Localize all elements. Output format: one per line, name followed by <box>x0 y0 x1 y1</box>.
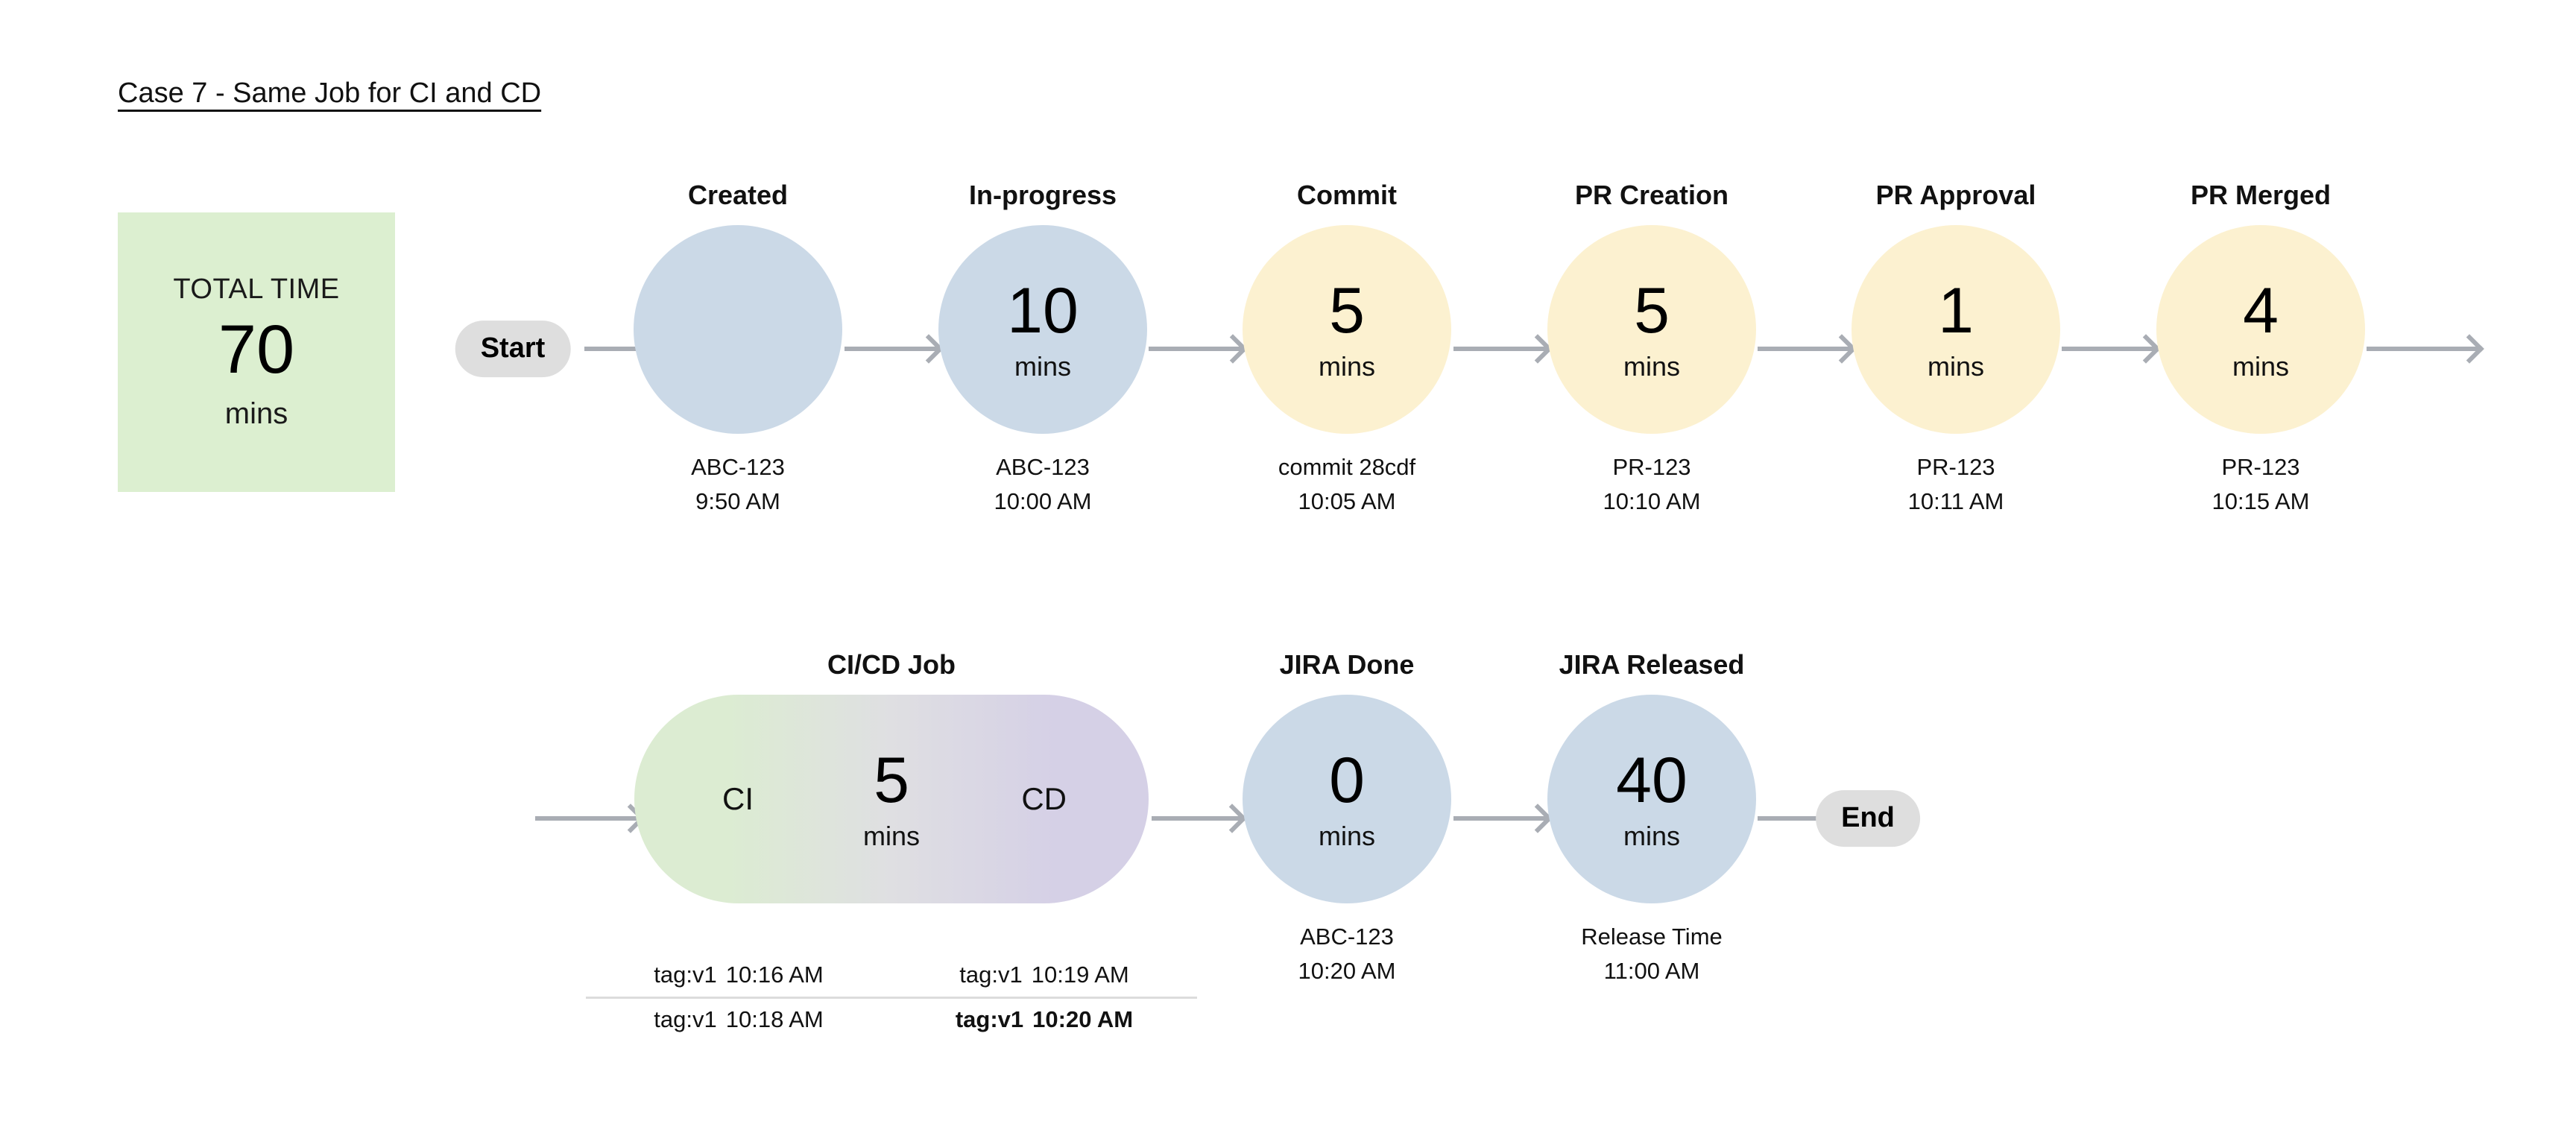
node-pr-approval[interactable]: PR Approval 1 mins PR-123 10:11 AM <box>1851 180 2060 520</box>
node-pr-creation-unit: mins <box>1623 353 1680 380</box>
node-pr-creation-label: PR Creation <box>1547 180 1756 210</box>
node-commit-meta-time: 10:05 AM <box>1243 484 1451 520</box>
end-pill[interactable]: End <box>1816 790 1920 847</box>
node-pr-merged-unit: mins <box>2232 353 2289 380</box>
node-jira-released[interactable]: JIRA Released 40 mins Release Time 11:00… <box>1547 650 1756 989</box>
tag-name: tag:v1 <box>654 962 716 988</box>
node-jira-done-unit: mins <box>1319 823 1375 850</box>
cicd-ci-text: CI <box>722 783 754 815</box>
page-title: Case 7 - Same Job for CI and CD <box>118 78 541 110</box>
node-created[interactable]: Created ABC-123 9:50 AM <box>634 180 842 520</box>
node-created-meta-time: 9:50 AM <box>634 484 842 520</box>
node-jira-released-meta-id: Release Time <box>1547 920 1756 955</box>
node-in-progress-meta: ABC-123 10:00 AM <box>938 450 1147 520</box>
node-commit-value: 5 <box>1329 279 1365 343</box>
node-created-meta: ABC-123 9:50 AM <box>634 450 842 520</box>
node-jira-released-meta-time: 11:00 AM <box>1547 954 1756 989</box>
node-pr-creation[interactable]: PR Creation 5 mins PR-123 10:10 AM <box>1547 180 1756 520</box>
cicd-center: 5 mins <box>863 748 920 850</box>
tag-time: 10:16 AM <box>726 962 824 988</box>
node-cicd-job-value: 5 <box>874 748 909 812</box>
cicd-cd-text: CD <box>1021 783 1067 815</box>
node-pr-creation-bubble: 5 mins <box>1547 225 1756 434</box>
node-in-progress-bubble: 10 mins <box>938 225 1147 434</box>
node-created-meta-id: ABC-123 <box>634 450 842 485</box>
node-commit-meta: commit 28cdf 10:05 AM <box>1243 450 1451 520</box>
node-pr-creation-meta-time: 10:10 AM <box>1547 484 1756 520</box>
node-in-progress-value: 10 <box>1007 279 1079 343</box>
node-in-progress-label: In-progress <box>938 180 1147 210</box>
node-pr-creation-meta: PR-123 10:10 AM <box>1547 450 1756 520</box>
node-pr-merged-meta: PR-123 10:15 AM <box>2156 450 2365 520</box>
node-cicd-job-unit: mins <box>863 823 920 850</box>
arrow-created-to-inprogress <box>845 347 938 351</box>
node-in-progress[interactable]: In-progress 10 mins ABC-123 10:00 AM <box>938 180 1147 520</box>
arrow-prapproval-to-prmerged <box>2062 347 2155 351</box>
node-jira-done-label: JIRA Done <box>1243 650 1451 680</box>
node-jira-released-meta: Release Time 11:00 AM <box>1547 920 1756 989</box>
node-pr-approval-label: PR Approval <box>1851 180 2060 210</box>
node-pr-approval-meta-id: PR-123 <box>1851 450 2060 485</box>
cicd-tag-table: tag:v110:16 AM tag:v110:19 AM tag:v110:1… <box>586 954 1197 1041</box>
arrow-prmerged-to-next <box>2367 347 2478 351</box>
total-time-card: TOTAL TIME 70 mins <box>118 212 395 492</box>
total-time-label: TOTAL TIME <box>173 273 339 307</box>
node-jira-done-value: 0 <box>1329 748 1365 812</box>
node-pr-merged[interactable]: PR Merged 4 mins PR-123 10:15 AM <box>2156 180 2365 520</box>
node-cicd-job-label: CI/CD Job <box>634 650 1149 680</box>
arrow-cicd-to-jira-done <box>1152 816 1241 821</box>
arrow-prcreation-to-prapproval <box>1758 347 1851 351</box>
node-created-label: Created <box>634 180 842 210</box>
node-pr-merged-value: 4 <box>2243 279 2279 343</box>
node-pr-approval-bubble: 1 mins <box>1851 225 2060 434</box>
node-jira-released-label: JIRA Released <box>1547 650 1756 680</box>
node-created-bubble <box>634 225 842 434</box>
node-pr-merged-bubble: 4 mins <box>2156 225 2365 434</box>
node-commit-meta-id: commit 28cdf <box>1243 450 1451 485</box>
tag-cell-ci-start: tag:v110:16 AM <box>586 954 891 997</box>
node-jira-done[interactable]: JIRA Done 0 mins ABC-123 10:20 AM <box>1243 650 1451 989</box>
node-pr-creation-meta-id: PR-123 <box>1547 450 1756 485</box>
node-pr-merged-label: PR Merged <box>2156 180 2365 210</box>
node-commit-unit: mins <box>1319 353 1375 380</box>
node-jira-done-meta: ABC-123 10:20 AM <box>1243 920 1451 989</box>
node-jira-released-bubble: 40 mins <box>1547 695 1756 903</box>
node-jira-released-value: 40 <box>1616 748 1688 812</box>
node-pr-approval-meta: PR-123 10:11 AM <box>1851 450 2060 520</box>
tag-time: 10:18 AM <box>726 1006 824 1032</box>
node-pr-approval-meta-time: 10:11 AM <box>1851 484 2060 520</box>
node-in-progress-meta-time: 10:00 AM <box>938 484 1147 520</box>
node-jira-done-bubble: 0 mins <box>1243 695 1451 903</box>
node-commit-bubble: 5 mins <box>1243 225 1451 434</box>
node-cicd-job[interactable]: CI/CD Job CI 5 mins CD <box>634 650 1149 903</box>
node-jira-released-unit: mins <box>1623 823 1680 850</box>
tag-name: tag:v1 <box>654 1006 716 1032</box>
tag-name: tag:v1 <box>959 962 1022 988</box>
total-time-unit: mins <box>225 396 288 432</box>
node-pr-creation-value: 5 <box>1634 279 1670 343</box>
arrow-jira-done-to-released <box>1453 816 1547 821</box>
node-cicd-job-capsule: CI 5 mins CD <box>634 695 1149 903</box>
node-jira-done-meta-id: ABC-123 <box>1243 920 1451 955</box>
node-pr-merged-meta-time: 10:15 AM <box>2156 484 2365 520</box>
tag-name: tag:v1 <box>956 1006 1023 1032</box>
start-pill[interactable]: Start <box>455 321 571 377</box>
node-jira-done-meta-time: 10:20 AM <box>1243 954 1451 989</box>
node-in-progress-meta-id: ABC-123 <box>938 450 1147 485</box>
total-time-value: 70 <box>218 311 294 390</box>
tag-cell-ci-end: tag:v110:18 AM <box>586 999 891 1041</box>
arrow-row2-entry <box>535 816 640 821</box>
tag-row-bottom: tag:v110:18 AM tag:v110:20 AM <box>586 999 1197 1041</box>
node-pr-approval-unit: mins <box>1928 353 1984 380</box>
node-in-progress-unit: mins <box>1014 353 1071 380</box>
tag-time: 10:19 AM <box>1032 962 1129 988</box>
arrow-inprogress-to-commit <box>1149 347 1242 351</box>
tag-cell-cd-end: tag:v110:20 AM <box>891 999 1197 1041</box>
tag-time: 10:20 AM <box>1032 1006 1133 1032</box>
tag-row-top: tag:v110:16 AM tag:v110:19 AM <box>586 954 1197 997</box>
node-commit-label: Commit <box>1243 180 1451 210</box>
node-pr-approval-value: 1 <box>1938 279 1974 343</box>
node-commit[interactable]: Commit 5 mins commit 28cdf 10:05 AM <box>1243 180 1451 520</box>
arrow-commit-to-prcreation <box>1453 347 1547 351</box>
tag-cell-cd-start: tag:v110:19 AM <box>891 954 1197 997</box>
node-pr-merged-meta-id: PR-123 <box>2156 450 2365 485</box>
